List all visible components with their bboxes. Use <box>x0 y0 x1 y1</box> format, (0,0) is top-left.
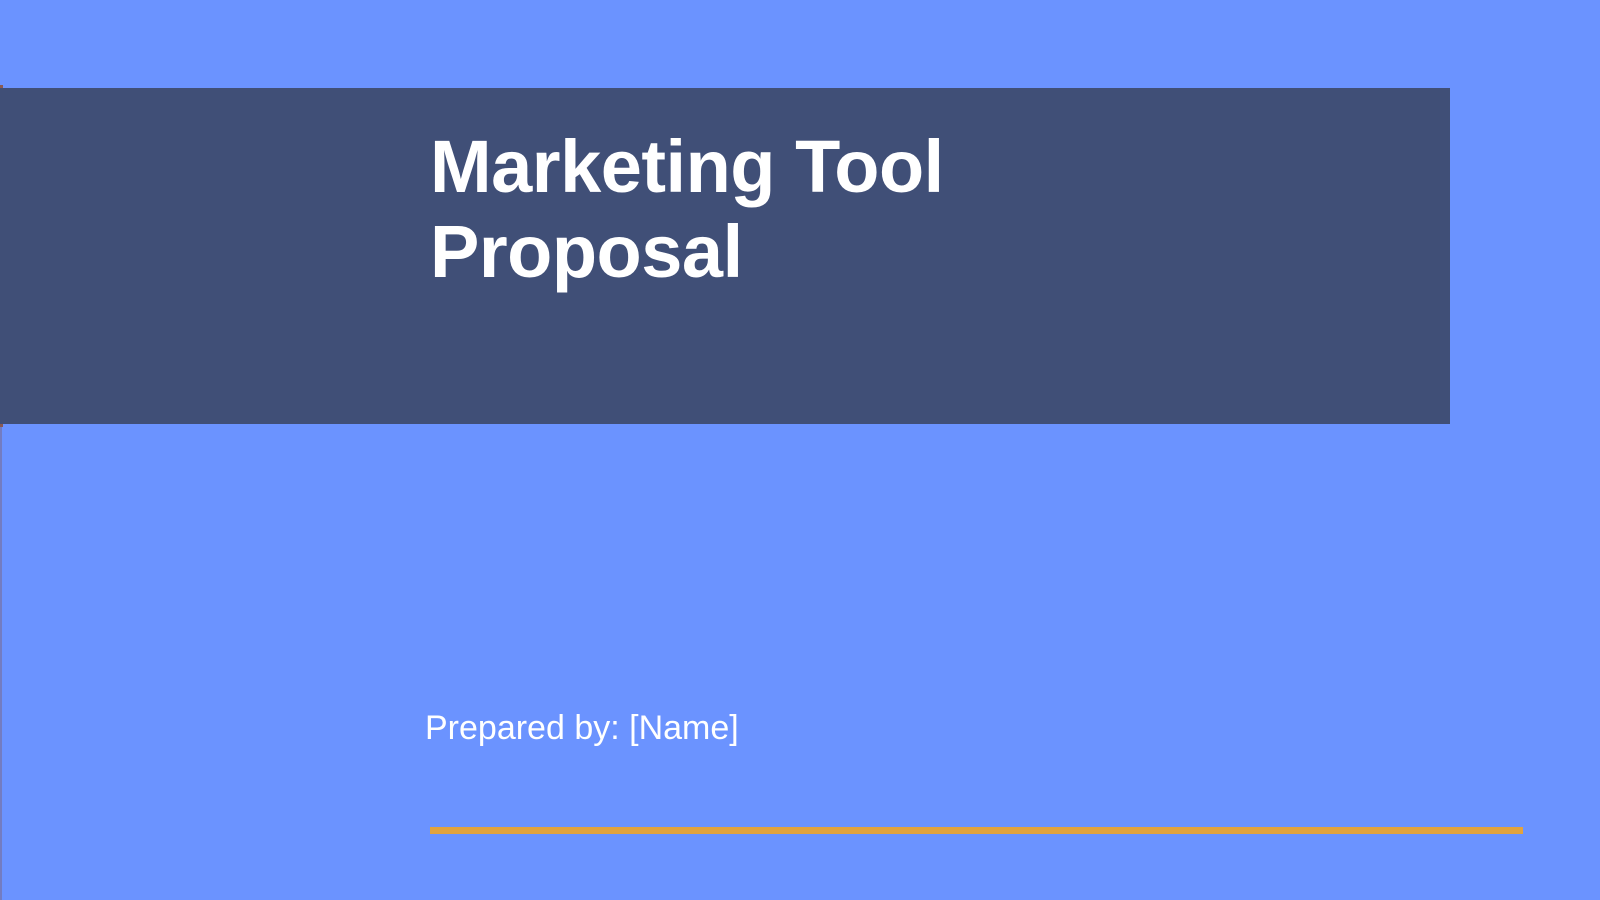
page-title: Marketing Tool Proposal <box>430 124 1390 294</box>
slide-left-edge-line <box>0 427 2 900</box>
presentation-slide: Marketing Tool Proposal Prepared by: [Na… <box>0 0 1600 900</box>
accent-divider <box>430 827 1523 834</box>
prepared-by-label: Prepared by: [Name] <box>425 708 739 749</box>
